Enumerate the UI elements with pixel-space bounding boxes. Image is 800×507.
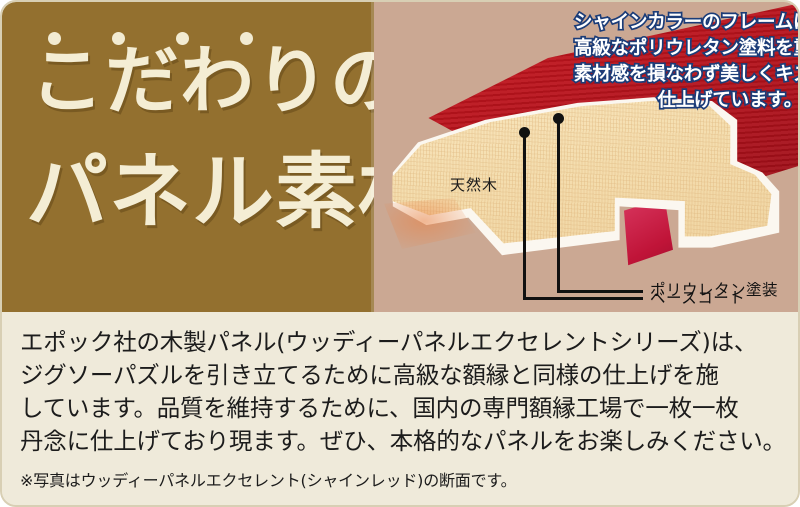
callout-line-base-coat-horizontal <box>523 297 643 300</box>
heading-line-1: こだわりの <box>30 44 374 118</box>
cross-section-photo: シャインカラーのフレームには 高級なポリウレタン塗料を重ね塗ることで 素材感を損… <box>374 2 800 312</box>
callout-line-base-coat-vertical <box>523 132 526 300</box>
description-line-4: 丹念に仕上げており現ます。ぜひ、本格的なパネルをお楽しみください。 <box>20 425 784 458</box>
photo-headline-line-3: 素材感を損なわず美しくキズに強い表面に <box>574 62 800 88</box>
description-line-3: しています。品質を維持するために、国内の専門額縁工場で一枚一枚 <box>20 392 784 425</box>
photo-headline-line-1: シャインカラーのフレームには <box>574 10 800 36</box>
description-line-1: エポック社の木製パネル(ウッディーパネルエクセレントシリーズ)は、 <box>20 326 784 359</box>
top-band: こだわりの パネル素材 シャインカラーのフレームには 高級なポリウレタン塗料を重… <box>2 2 800 312</box>
description-line-2: ジグソーパズルを引き立てるために高級な額縁と同様の仕上げを施 <box>20 359 784 392</box>
description-note: ※写真はウッディーパネルエクセレント(シャインレッド)の断面です。 <box>20 470 784 492</box>
heading-panel: こだわりの パネル素材 <box>2 2 374 312</box>
photo-headline-line-4: 仕上げています。 <box>574 88 800 114</box>
photo-headline: シャインカラーのフレームには 高級なポリウレタン塗料を重ね塗ることで 素材感を損… <box>574 10 800 114</box>
heading-line-2: パネル素材 <box>26 152 374 234</box>
infographic-panel: こだわりの パネル素材 シャインカラーのフレームには 高級なポリウレタン塗料を重… <box>0 0 800 507</box>
callout-line-polyurethane-vertical <box>557 118 560 293</box>
callout-label-base-coat: ベースコート <box>650 286 745 308</box>
photo-headline-line-2: 高級なポリウレタン塗料を重ね塗ることで <box>574 36 800 62</box>
description-block: エポック社の木製パネル(ウッディーパネルエクセレントシリーズ)は、 ジグソーパズ… <box>2 312 800 505</box>
callout-label-natural-wood: 天然木 <box>450 174 498 195</box>
callout-line-polyurethane-horizontal <box>557 290 643 293</box>
